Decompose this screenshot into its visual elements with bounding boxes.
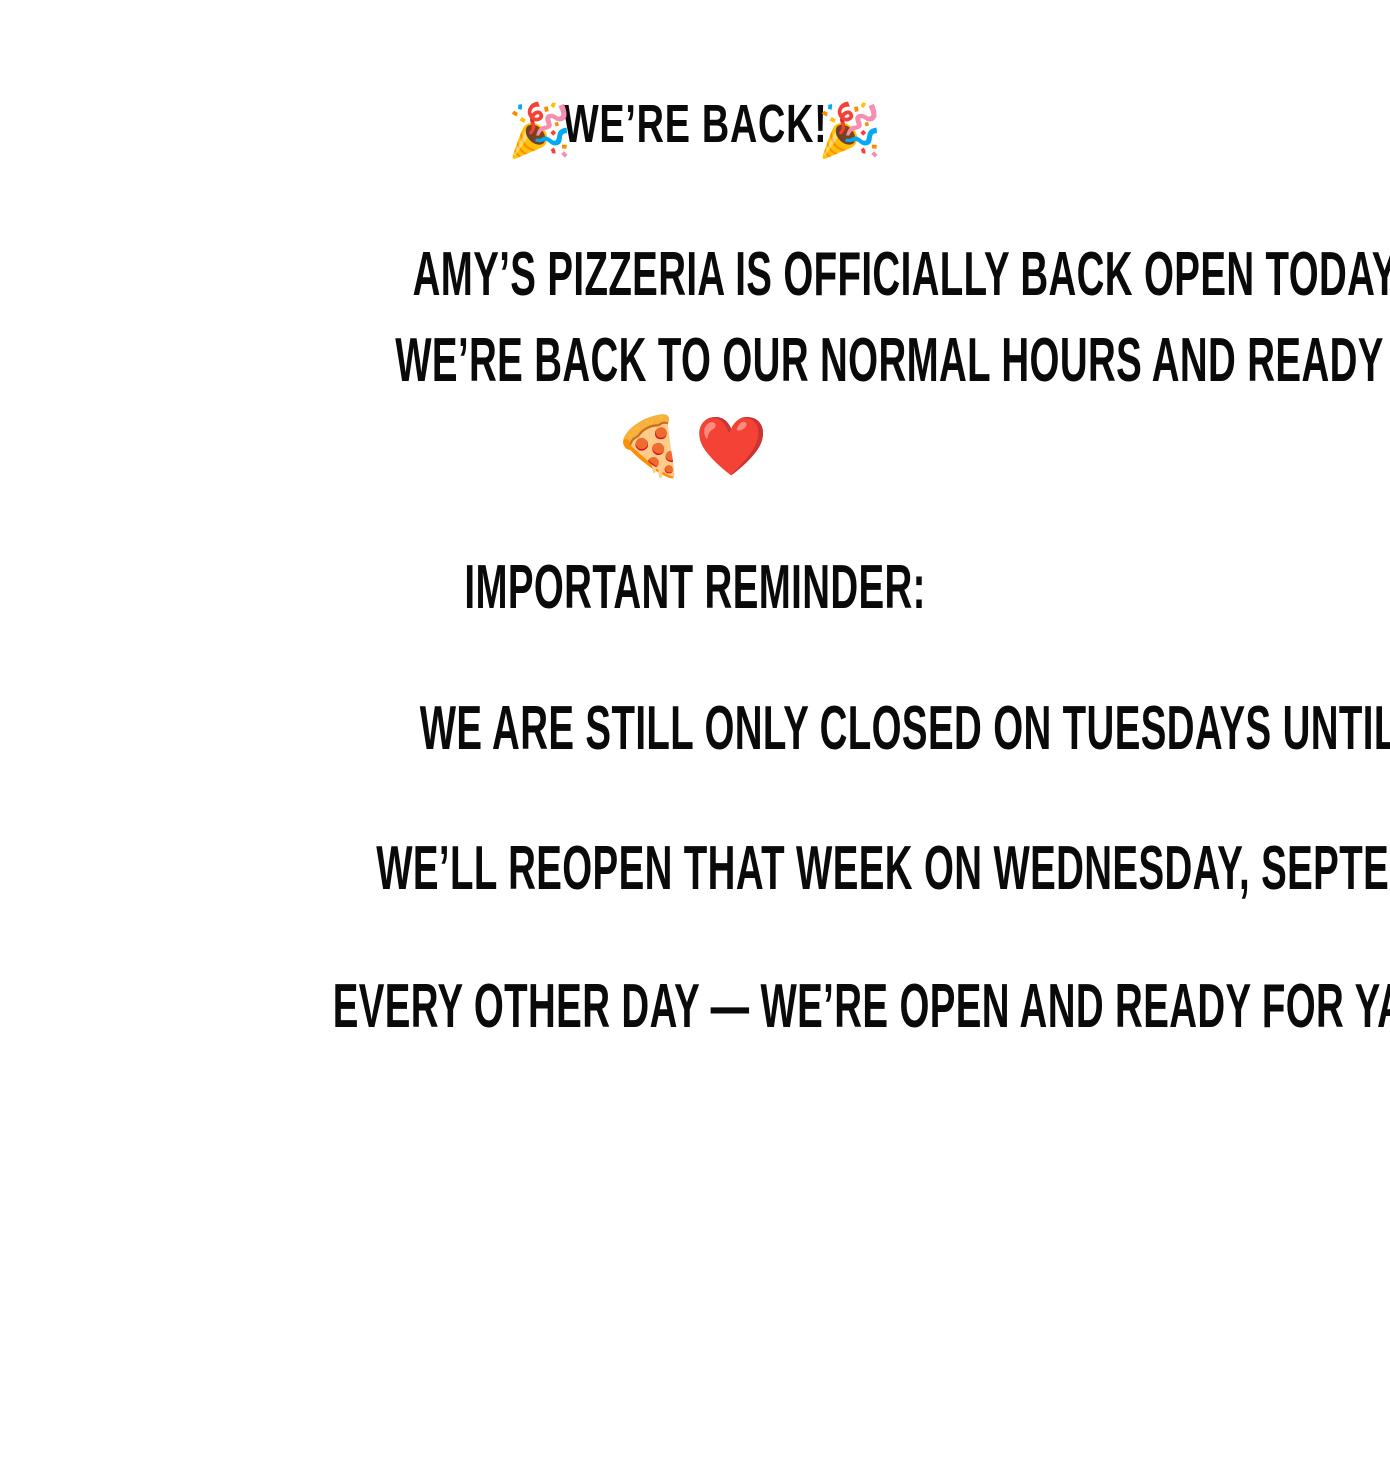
every-other-day-text: EVERY OTHER DAY — WE’RE OPEN AND READY F… xyxy=(333,976,1390,1038)
normal-hours-line: WE’RE BACK TO OUR NORMAL HOURS AND READY… xyxy=(0,330,1390,392)
red-heart-icon: ❤️ xyxy=(695,414,777,479)
poster-empty-footer xyxy=(0,1060,1390,1463)
important-reminder-text: IMPORTANT REMINDER: xyxy=(464,557,925,619)
poster-headline: 🎉WE’RE BACK!🎉 xyxy=(0,97,1390,157)
normal-hours-text: WE’RE BACK TO OUR NORMAL HOURS AND READY… xyxy=(395,330,1390,392)
closed-tuesdays-text: WE ARE STILL ONLY CLOSED ON TUESDAYS UNT… xyxy=(420,698,1390,760)
party-popper-icon-right: 🎉 xyxy=(818,105,883,157)
important-reminder-heading: IMPORTANT REMINDER: xyxy=(0,557,1390,619)
reopen-date-text: WE’LL REOPEN THAT WEEK ON WEDNESDAY, SEP… xyxy=(376,838,1390,900)
every-other-day-line: EVERY OTHER DAY — WE’RE OPEN AND READY F… xyxy=(0,976,1390,1038)
closed-tuesdays-line: WE ARE STILL ONLY CLOSED ON TUESDAYS UNT… xyxy=(0,698,1390,760)
headline-text: WE’RE BACK! xyxy=(563,94,828,154)
pizza-heart-emoji-row: 🍕❤️ xyxy=(0,418,1390,476)
reopen-date-line: WE’LL REOPEN THAT WEEK ON WEDNESDAY, SEP… xyxy=(0,838,1390,900)
pizza-slice-icon: 🍕 xyxy=(614,414,696,479)
party-popper-icon-left: 🎉 xyxy=(507,105,572,157)
back-open-line: AMY’S PIZZERIA IS OFFICIALLY BACK OPEN T… xyxy=(0,244,1390,306)
announcement-poster: 🎉WE’RE BACK!🎉 AMY’S PIZZERIA IS OFFICIAL… xyxy=(0,0,1390,1463)
back-open-text: AMY’S PIZZERIA IS OFFICIALLY BACK OPEN T… xyxy=(413,244,1390,306)
